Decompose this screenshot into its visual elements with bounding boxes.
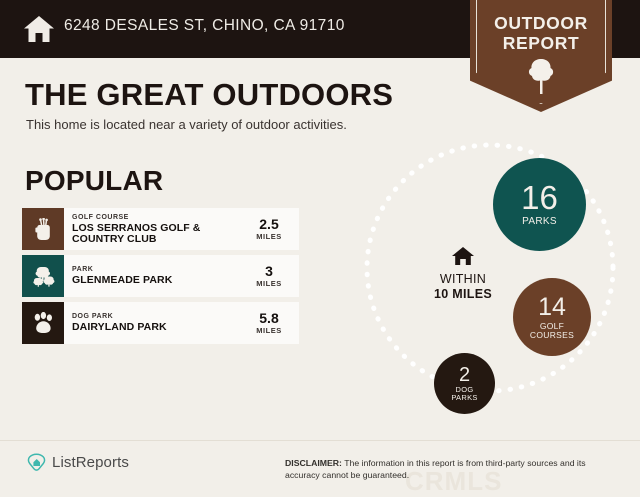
poi-distance-unit: MILES <box>256 279 281 289</box>
poi-name: DAIRYLAND PARK <box>72 322 243 334</box>
page-subtitle: This home is located near a variety of o… <box>26 117 347 132</box>
poi-name: GLENMEADE PARK <box>72 275 243 287</box>
footer-divider <box>0 440 640 441</box>
stat-circle-golf-courses[interactable]: 14 GOLF COURSES <box>513 278 591 356</box>
stat-label: GOLF COURSES <box>530 322 574 340</box>
golf-bag-icon <box>33 218 54 241</box>
home-icon <box>22 12 56 46</box>
poi-distance-unit: MILES <box>256 326 281 336</box>
popular-places-list: GOLF COURSE LOS SERRANOS GOLF & COUNTRY … <box>22 208 299 349</box>
popular-section-heading: POPULAR <box>25 165 163 197</box>
poi-distance: 2.5 MILES <box>243 208 299 250</box>
list-item[interactable]: PARK GLENMEADE PARK 3 MILES <box>22 255 299 297</box>
stat-label: DOG PARKS <box>451 386 477 402</box>
listreports-logo[interactable]: ListReports <box>27 453 129 472</box>
poi-icon-box <box>22 208 64 250</box>
page-title: THE GREAT OUTDOORS <box>25 77 393 113</box>
stat-label: PARKS <box>522 217 557 228</box>
poi-text: DOG PARK DAIRYLAND PARK <box>64 302 243 344</box>
paw-print-icon <box>32 312 55 334</box>
poi-text: GOLF COURSE LOS SERRANOS GOLF & COUNTRY … <box>64 208 243 250</box>
property-address: 6248 DESALES ST, CHINO, CA 91710 <box>64 17 345 35</box>
within-radius-center: WITHIN 10 MILES <box>415 245 511 301</box>
stat-value: 2 <box>459 365 470 385</box>
badge-title-line1: OUTDOOR <box>470 13 612 34</box>
radius-label: 10 MILES <box>415 287 511 302</box>
trees-icon <box>32 266 55 287</box>
stat-value: 14 <box>538 295 566 320</box>
poi-name: LOS SERRANOS GOLF & COUNTRY CLUB <box>72 223 243 246</box>
stat-label-line2: PARKS <box>451 393 477 402</box>
disclaimer: DISCLAIMER: The information in this repo… <box>285 457 610 481</box>
list-item[interactable]: DOG PARK DAIRYLAND PARK 5.8 MILES <box>22 302 299 344</box>
outdoor-stats-infographic: 16 PARKS 14 GOLF COURSES 2 DOG PARKS WIT… <box>355 140 640 435</box>
poi-text: PARK GLENMEADE PARK <box>64 255 243 297</box>
poi-category: GOLF COURSE <box>72 213 243 223</box>
within-label: WITHIN <box>415 272 511 287</box>
poi-icon-box <box>22 255 64 297</box>
stat-label-line2: COURSES <box>530 330 574 340</box>
poi-distance-unit: MILES <box>256 232 281 242</box>
poi-distance-value: 2.5 <box>259 217 278 232</box>
poi-distance: 5.8 MILES <box>243 302 299 344</box>
stat-circle-parks[interactable]: 16 PARKS <box>493 158 586 251</box>
house-pin-icon <box>27 453 46 472</box>
poi-distance: 3 MILES <box>243 255 299 297</box>
home-icon <box>451 245 475 267</box>
poi-distance-value: 3 <box>265 264 273 279</box>
tree-icon <box>525 57 557 95</box>
stat-circle-dog-parks[interactable]: 2 DOG PARKS <box>434 353 495 414</box>
poi-icon-box <box>22 302 64 344</box>
stat-value: 16 <box>521 181 558 214</box>
listreports-logo-text: ListReports <box>52 454 129 471</box>
poi-distance-value: 5.8 <box>259 311 278 326</box>
outdoor-report-badge: OUTDOOR REPORT <box>470 0 612 112</box>
badge-title-line2: REPORT <box>470 33 612 54</box>
list-item[interactable]: GOLF COURSE LOS SERRANOS GOLF & COUNTRY … <box>22 208 299 250</box>
disclaimer-label: DISCLAIMER: <box>285 458 342 468</box>
